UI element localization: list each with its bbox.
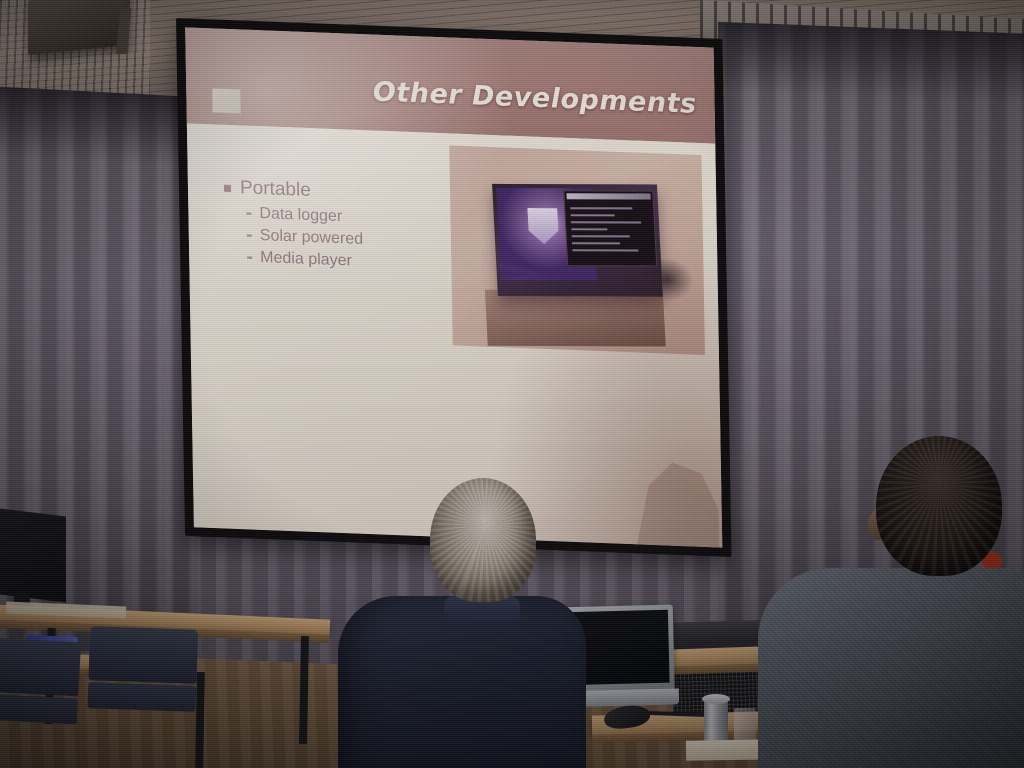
chair-left-1 <box>0 638 81 763</box>
bullet-dash-icon <box>246 213 251 215</box>
terminal-titlebar <box>566 193 650 199</box>
slide-body: Portable Data logger Solar powered <box>187 123 722 547</box>
bullet-dash-icon <box>247 257 252 259</box>
presentation-slide: Other Developments Portable Data logger <box>185 27 722 547</box>
dark-crt-monitor <box>0 507 66 602</box>
device-display <box>492 184 663 297</box>
terminal-text-line <box>572 242 620 244</box>
chair-seat <box>87 682 196 712</box>
drinking-glass <box>734 708 756 740</box>
table-leg <box>195 672 205 768</box>
bullet-dash-icon <box>247 235 252 237</box>
bullet-label: Portable <box>240 177 311 202</box>
chair-left-2 <box>86 626 198 760</box>
curtain-shadow <box>718 22 1024 104</box>
lecture-hall-photo: Other Developments Portable Data logger <box>0 0 1024 768</box>
can-lid <box>702 694 730 704</box>
terminal-text-line <box>571 221 641 223</box>
bullet-label: Data logger <box>259 205 342 226</box>
dark-hair <box>876 436 1002 576</box>
terminal-text-line <box>570 207 632 209</box>
grey-tweed-jacket <box>758 568 1024 768</box>
slide-title: Other Developments <box>373 77 697 120</box>
bullet-level1: Portable <box>224 177 455 208</box>
hair-strands <box>876 436 1002 576</box>
bullet-level2: Solar powered <box>247 227 455 253</box>
device-cables <box>639 257 694 303</box>
hair-strands <box>430 478 536 602</box>
slide-embedded-photo <box>449 145 705 355</box>
chair-backrest <box>0 638 81 697</box>
curtain-shadow <box>0 87 200 167</box>
terminal-text-line <box>571 228 607 230</box>
terminal-text-line <box>572 235 630 237</box>
chair-seat <box>0 694 78 725</box>
bullet-label: Media player <box>260 249 352 271</box>
terminal-text-line <box>572 249 638 251</box>
screen-surface: Other Developments Portable Data logger <box>185 27 722 547</box>
device-enclosure <box>485 290 666 347</box>
grey-hair <box>430 478 536 602</box>
terminal-text-line <box>571 214 615 216</box>
bullet-level2: Media player <box>247 249 455 275</box>
bullet-label: Solar powered <box>260 227 364 249</box>
slide-logo-icon <box>212 88 240 113</box>
projection-screen: Other Developments Portable Data logger <box>176 18 731 557</box>
bullet-square-icon <box>224 184 231 191</box>
aluminium-drink-can <box>704 700 728 742</box>
slide-bullet-list: Portable Data logger Solar powered <box>224 177 456 279</box>
terminal-window <box>563 190 657 266</box>
chair-backrest <box>88 626 198 684</box>
bullet-level2: Data logger <box>246 205 454 231</box>
crest-logo-icon <box>527 208 559 244</box>
